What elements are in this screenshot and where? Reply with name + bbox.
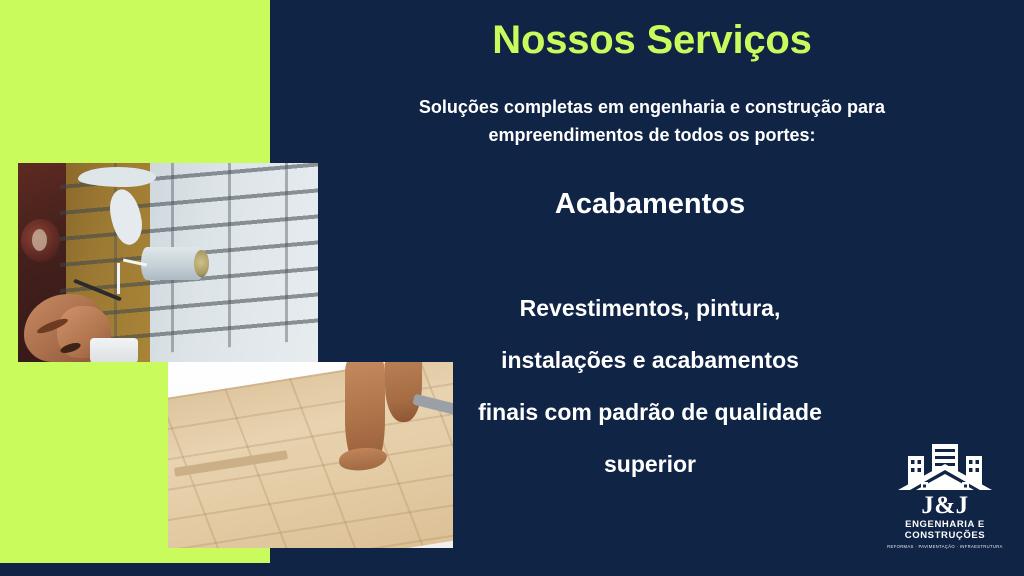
- presentation-slide: Nossos Serviços Soluções completas em en…: [0, 0, 1024, 576]
- page-title: Nossos Serviços: [360, 18, 944, 63]
- logo-company-name: ENGENHARIA E CONSTRUÇÕES: [880, 519, 1010, 541]
- paint-bucket: [90, 338, 138, 362]
- logo-tagline: REFORMAS · PAVIMENTAÇÃO · INFRAESTRUTURA: [880, 543, 1010, 550]
- photo-painting-brick-wall: [18, 163, 318, 362]
- paint-scene: [18, 163, 318, 362]
- paint-splash-top: [78, 167, 156, 187]
- photo-wood-flooring: [168, 362, 453, 548]
- paint-roller-cap: [194, 250, 209, 278]
- wall-fixture-inner: [32, 229, 47, 251]
- company-logo: J&J ENGENHARIA E CONSTRUÇÕES REFORMAS · …: [880, 440, 1010, 558]
- worker-leg-back: [385, 362, 422, 422]
- logo-wordmark: J&J: [880, 494, 1010, 518]
- page-subtitle: Soluções completas em engenharia e const…: [346, 93, 958, 149]
- paint-roller-arm-bend: [117, 263, 120, 295]
- service-heading: Acabamentos: [400, 188, 900, 221]
- house-and-buildings-icon: [880, 440, 1010, 496]
- service-description: Revestimentos, pintura, instalações e ac…: [470, 282, 830, 490]
